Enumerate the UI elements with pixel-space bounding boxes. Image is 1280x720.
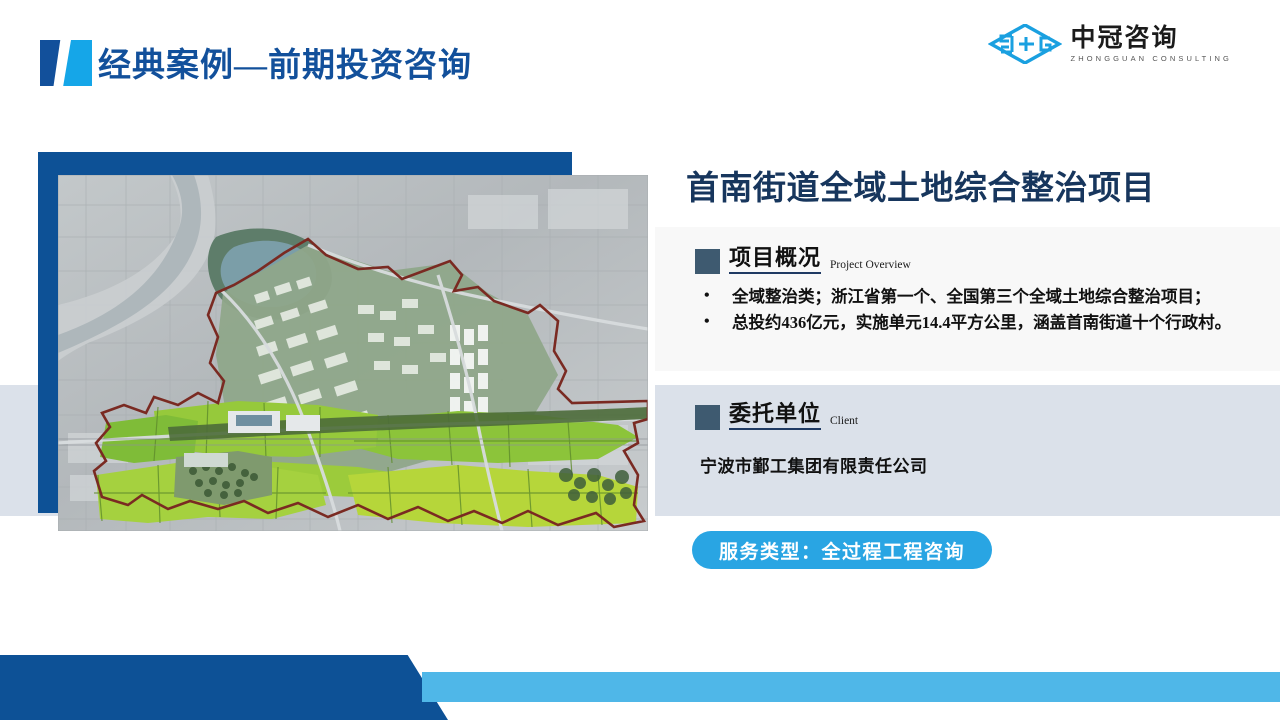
overview-heading-cn: 项目概况: [729, 247, 821, 274]
page-title: 经典案例—前期投资咨询: [98, 38, 472, 86]
client-heading-cn: 委托单位: [729, 403, 821, 430]
footer-shape-dark: [0, 655, 448, 720]
overview-bullet-list: 全域整治类；浙江省第一个、全国第三个全域土地综合整治项目； 总投约436亿元，实…: [700, 284, 1272, 336]
project-title: 首南街道全域土地综合整治项目: [686, 161, 1155, 209]
double-parallelogram-logo-icon: [40, 40, 92, 86]
client-heading-en: Client: [830, 415, 858, 427]
footer-shape-light: [422, 672, 1280, 702]
list-item: 总投约436亿元，实施单元14.4平方公里，涵盖首南街道十个行政村。: [700, 310, 1272, 335]
aerial-satellite-map-image: [58, 175, 648, 531]
square-marker-icon: [695, 249, 720, 274]
list-item: 全域整治类；浙江省第一个、全国第三个全域土地综合整治项目；: [700, 284, 1272, 309]
slide-canvas: 经典案例—前期投资咨询 中冠咨询 ZHONGGUAN CONSULTING: [0, 0, 1280, 720]
brand-name-en: ZHONGGUAN CONSULTING: [1071, 55, 1232, 63]
client-section-header: 委托单位 Client: [695, 403, 858, 430]
client-name: 宁波市鄞工集团有限责任公司: [700, 452, 928, 477]
brand-logo: 中冠咨询 ZHONGGUAN CONSULTING: [988, 24, 1232, 64]
brand-text: 中冠咨询 ZHONGGUAN CONSULTING: [1071, 26, 1232, 63]
service-type-badge: 服务类型：全过程工程咨询: [692, 531, 992, 569]
square-marker-icon: [695, 405, 720, 430]
zhongguan-hexagon-emblem-icon: [988, 24, 1062, 64]
overview-heading-en: Project Overview: [830, 259, 911, 271]
logo-shape-light: [62, 40, 92, 86]
brand-name-cn: 中冠咨询: [1071, 26, 1232, 51]
aerial-map-graphic: [58, 175, 648, 531]
logo-shape-dark: [40, 40, 66, 86]
overview-section-header: 项目概况 Project Overview: [695, 247, 911, 274]
